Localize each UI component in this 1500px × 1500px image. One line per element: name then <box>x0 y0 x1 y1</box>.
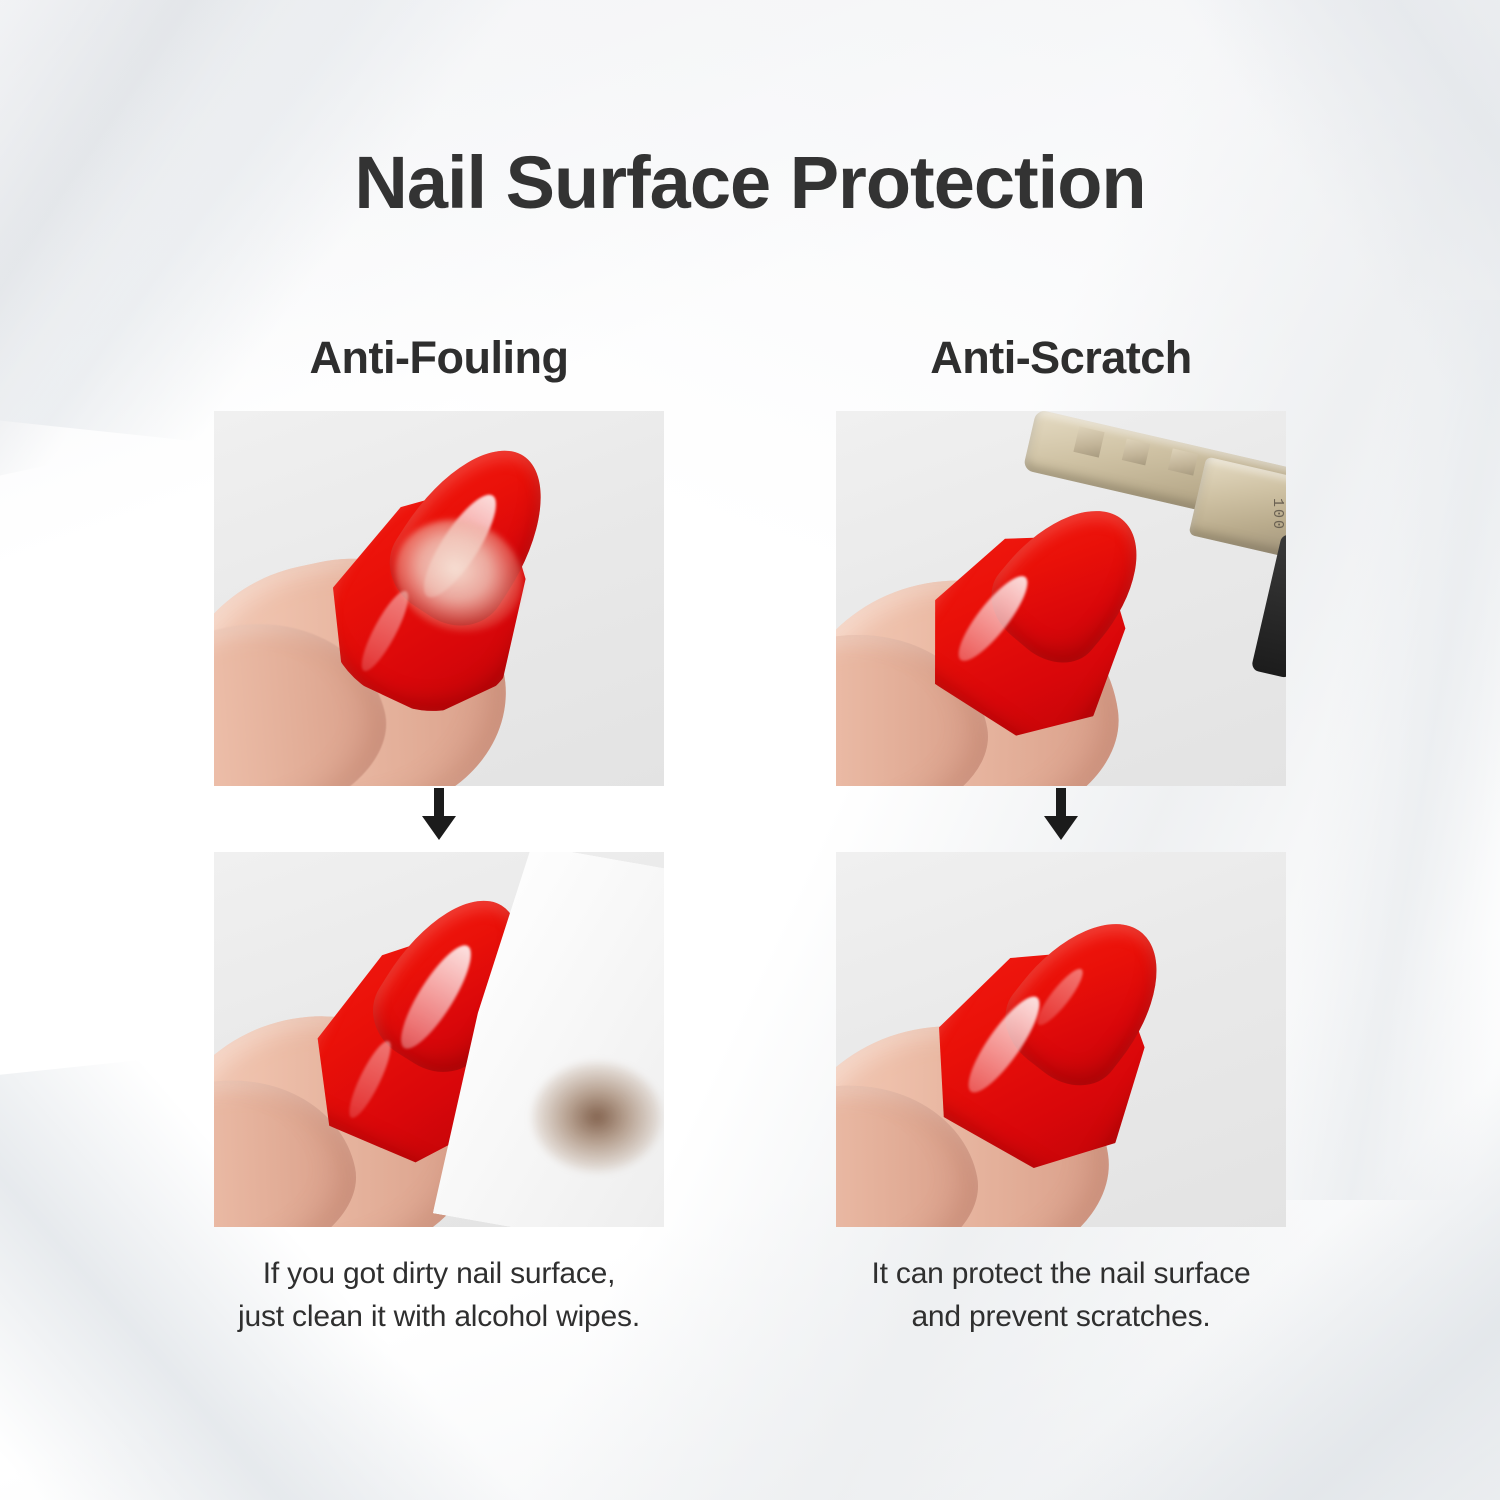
page-title: Nail Surface Protection <box>0 140 1500 225</box>
caption-line: If you got dirty nail surface, <box>238 1253 640 1296</box>
anti-fouling-bottom-photo <box>214 852 664 1227</box>
column-anti-fouling: Anti-Fouling <box>214 332 664 1338</box>
anti-fouling-top-photo <box>214 411 664 786</box>
dirt-stain-on-wipe <box>532 1062 662 1172</box>
column-heading-anti-fouling: Anti-Fouling <box>310 332 569 384</box>
caption-anti-fouling: If you got dirty nail surface, just clea… <box>238 1253 640 1338</box>
caption-line: It can protect the nail surface <box>871 1253 1250 1296</box>
caption-line: and prevent scratches. <box>871 1296 1250 1339</box>
promo-page: Nail Surface Protection Anti-Fouling <box>0 0 1500 1500</box>
caption-line: just clean it with alcohol wipes. <box>238 1296 640 1339</box>
caption-anti-scratch: It can protect the nail surface and prev… <box>871 1253 1250 1338</box>
key-number-label: 100 <box>1269 498 1286 531</box>
anti-scratch-top-photo: 100 <box>836 411 1286 786</box>
feature-columns: Anti-Fouling <box>0 332 1500 1338</box>
column-anti-scratch: Anti-Scratch 100 <box>836 332 1286 1338</box>
column-heading-anti-scratch: Anti-Scratch <box>930 332 1192 384</box>
anti-scratch-bottom-photo <box>836 852 1286 1227</box>
